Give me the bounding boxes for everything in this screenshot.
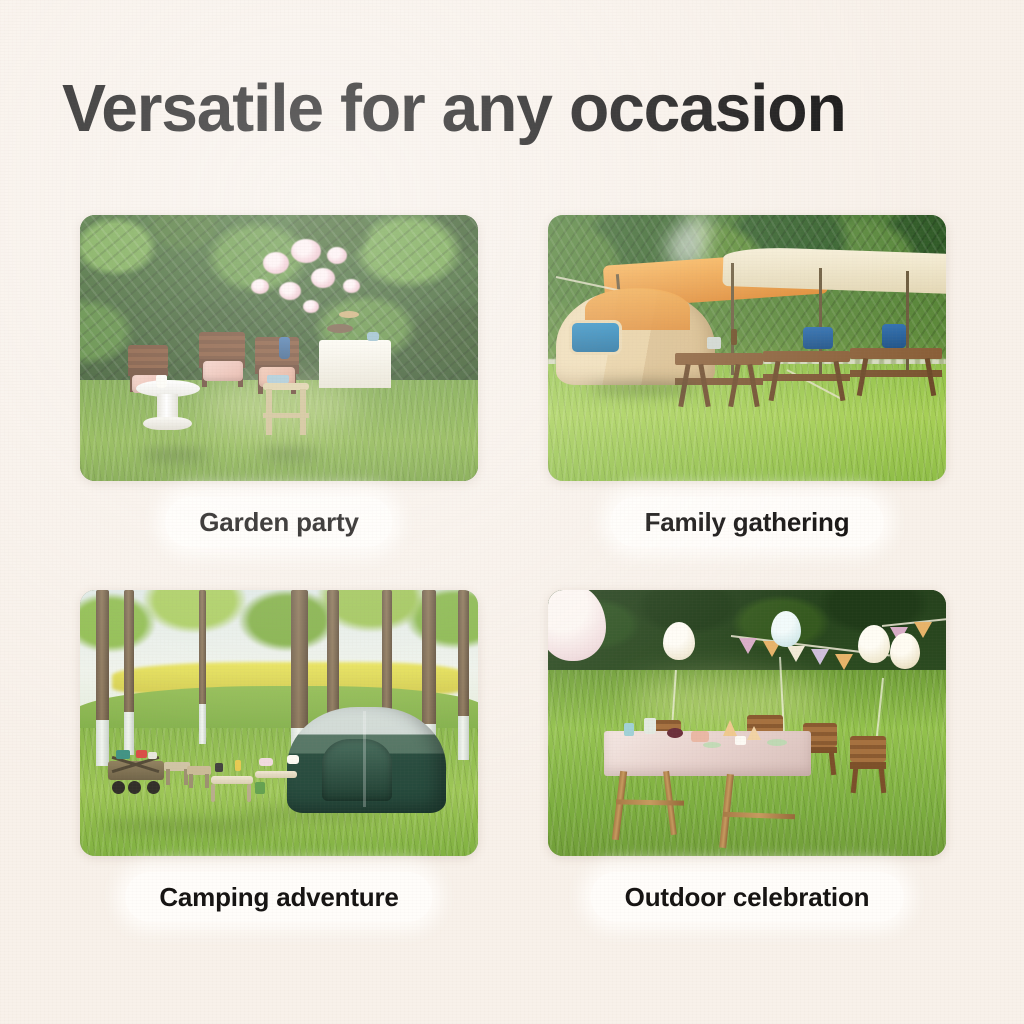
- caption-wrap-outdoor-celebration: Outdoor celebration: [548, 856, 946, 942]
- caption-pill-family-gathering: Family gathering: [611, 497, 884, 547]
- occasion-grid: Garden party: [0, 0, 1024, 1024]
- caption-wrap-garden-party: Garden party: [80, 481, 478, 567]
- caption-label-outdoor-celebration: Outdoor celebration: [625, 882, 870, 913]
- caption-pill-garden-party: Garden party: [165, 497, 392, 547]
- scene-garden-party: [80, 215, 478, 481]
- caption-label-garden-party: Garden party: [199, 507, 358, 538]
- caption-wrap-family-gathering: Family gathering: [548, 481, 946, 567]
- occasion-cell-camping-adventure[interactable]: Camping adventure: [80, 590, 478, 942]
- caption-pill-outdoor-celebration: Outdoor celebration: [591, 872, 904, 922]
- card-image-outdoor-celebration[interactable]: [548, 590, 946, 856]
- caption-label-family-gathering: Family gathering: [645, 507, 850, 538]
- card-image-garden-party[interactable]: [80, 215, 478, 481]
- caption-wrap-camping-adventure: Camping adventure: [80, 856, 478, 942]
- scene-family-gathering: [548, 215, 946, 481]
- card-image-family-gathering[interactable]: [548, 215, 946, 481]
- caption-pill-camping-adventure: Camping adventure: [125, 872, 432, 922]
- scene-camping-adventure: [80, 590, 478, 856]
- caption-label-camping-adventure: Camping adventure: [159, 882, 398, 913]
- card-image-camping-adventure[interactable]: [80, 590, 478, 856]
- occasion-cell-family-gathering[interactable]: Family gathering: [548, 215, 946, 567]
- occasion-cell-garden-party[interactable]: Garden party: [80, 215, 478, 567]
- scene-outdoor-celebration: [548, 590, 946, 856]
- occasion-cell-outdoor-celebration[interactable]: Outdoor celebration: [548, 590, 946, 942]
